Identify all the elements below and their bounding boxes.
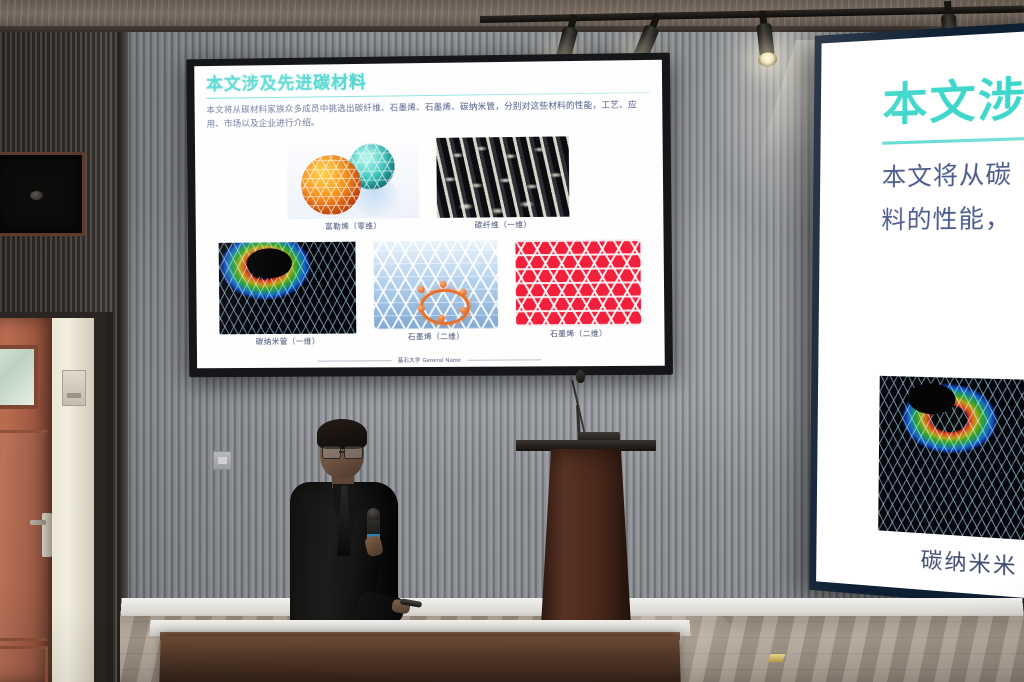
slide-title: 本文涉及先进碳材料 [206, 70, 650, 95]
slide-footer: 基石大学 General Name [197, 355, 665, 366]
figure-item: 碳纤维（一维） [436, 136, 569, 231]
main-screen-surface: 本文涉及先进碳材料 本文将从碳材料家族众多成员中挑选出碳纤维、石墨烯、石墨烯、碳… [194, 60, 665, 369]
figure-caption: 石墨烯（二维） [516, 327, 641, 339]
light-switch[interactable] [62, 370, 86, 406]
main-projection-screen: 本文涉及先进碳材料 本文将从碳材料家族众多成员中挑选出碳纤维、石墨烯、石墨烯、碳… [186, 53, 673, 378]
secondary-screen-surface: 本文涉 本文将从碳 料的性能， 碳纳米米 [816, 29, 1024, 602]
microphone-grille-icon [367, 508, 380, 520]
figure-graphite [515, 239, 641, 326]
figure-carbon-fiber [436, 136, 569, 218]
figure-graphene [373, 240, 498, 329]
slide-body-text: 本文将从碳材料家族众多成员中挑选出碳纤维、石墨烯、石墨烯、碳纳米管，分别对这些材… [206, 98, 650, 130]
wall-power-outlet[interactable] [213, 451, 232, 470]
left-wall-corner [118, 32, 128, 682]
figure-row-top: 富勒烯（零维） 碳纤维（一维） [207, 135, 652, 233]
presentation-slide: 本文涉及先进碳材料 本文将从碳材料家族众多成员中挑选出碳纤维、石墨烯、石墨烯、碳… [194, 60, 665, 369]
footer-rule-right [467, 359, 541, 360]
footer-rule-left [318, 360, 392, 361]
figure-caption: 富勒烯（零维） [288, 220, 419, 232]
secondary-projection-screen: 本文涉 本文将从碳 料的性能， 碳纳米米 [809, 20, 1024, 611]
wall-speaker [0, 152, 85, 236]
foreground-bench [159, 636, 680, 682]
footer-text: 基石大学 General Name [398, 356, 461, 364]
door-panel-upper [0, 430, 48, 641]
figure-caption: 碳纳米管（一维） [220, 335, 357, 347]
figure-caption: 碳纤维（一维） [437, 218, 570, 230]
figure-item: 石墨烯（二维） [515, 239, 641, 345]
figure-item: 碳纳米管（一维） [219, 241, 357, 347]
door-glass-panel [0, 345, 38, 409]
figure-item: 富勒烯（零维） [287, 138, 419, 232]
secondary-figure-carbon-nanotube [878, 376, 1024, 544]
speaker-cone-icon [30, 191, 43, 200]
figure-fullerene [287, 138, 419, 219]
presenter-hair [317, 419, 367, 449]
presentation-room-photo: 本文涉 本文将从碳 料的性能， 碳纳米米 本文涉及先进碳材料 本文将从碳材料家族… [0, 0, 1024, 682]
figure-caption: 石墨烯（二维） [374, 330, 498, 342]
figure-carbon-nanotube [219, 241, 357, 334]
figure-row-bottom: 碳纳米管（一维） 石墨烯（二维） [208, 239, 653, 347]
gooseneck-microphone-head-icon [576, 370, 585, 383]
secondary-slide-title: 本文涉 [882, 42, 1024, 134]
podium-body [540, 449, 632, 644]
secondary-slide-body-line1: 本文将从碳 [882, 142, 1024, 200]
figure-item: 石墨烯（二维） [373, 240, 498, 346]
glasses-icon [322, 446, 364, 457]
door-lever-icon[interactable] [30, 520, 46, 525]
door-panel-lower [0, 646, 48, 682]
